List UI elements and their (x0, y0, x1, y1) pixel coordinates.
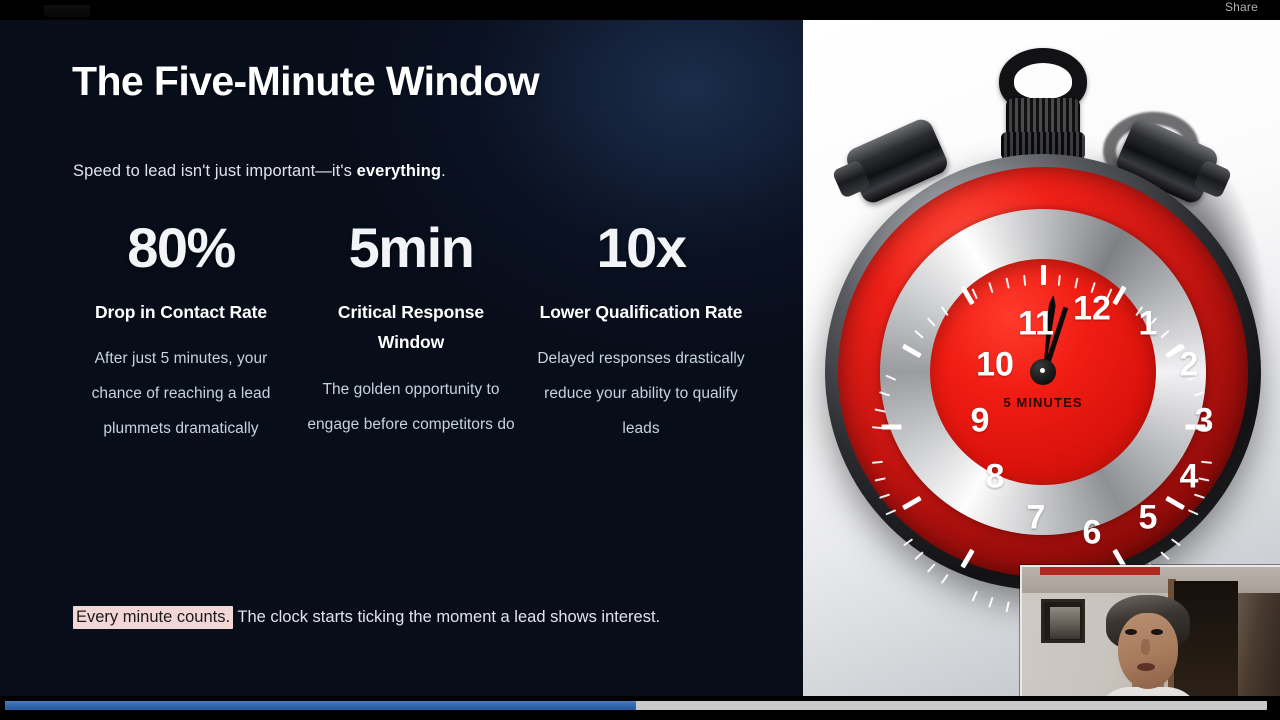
stat-card: 80% Drop in Contact Rate After just 5 mi… (66, 218, 296, 447)
dial-tick-minor (1005, 601, 1009, 612)
stopwatch-dial: 5 MINUTES 121234567891011 (930, 259, 1156, 485)
stopwatch-case: 5 MINUTES 121234567891011 (825, 154, 1261, 590)
dial-tick-minor (1074, 278, 1078, 289)
dial-numeral: 10 (976, 346, 1014, 385)
dial-tick-major (1165, 496, 1185, 510)
dial-tick-minor (1057, 275, 1060, 286)
dial-tick-minor (885, 509, 896, 515)
stat-label: Critical Response Window (304, 297, 518, 357)
stat-value: 5min (304, 218, 518, 277)
screen: Share The Five-Minute Window Speed to le… (0, 0, 1280, 720)
stats-row: 80% Drop in Contact Rate After just 5 mi… (66, 218, 756, 447)
subtitle-emphasis: everything (357, 162, 441, 180)
dial-label: 5 MINUTES (1003, 395, 1082, 410)
dial-tick-major (901, 496, 921, 510)
dial-tick-minor (988, 597, 993, 608)
stat-description: After just 5 minutes, your chance of rea… (74, 341, 288, 446)
dial-tick-minor (874, 408, 885, 412)
webcam-wall-picture (1041, 599, 1085, 643)
dial-tick-minor (988, 282, 993, 293)
participant-nose (1141, 639, 1150, 655)
stopwatch-chrome-ring: 5 MINUTES 121234567891011 (880, 209, 1206, 535)
dial-numeral: 12 (1073, 290, 1111, 329)
dial-numeral: 9 (971, 402, 990, 441)
toolbar-left-control[interactable] (44, 5, 90, 17)
stat-value: 80% (74, 218, 288, 277)
dial-tick-minor (874, 477, 885, 481)
participant-mouth (1137, 663, 1155, 671)
dial-tick-minor (1201, 461, 1212, 464)
hand-center-cap (1030, 359, 1056, 385)
progress-scrollbar[interactable] (5, 701, 1267, 710)
closing-rest: The clock starts ticking the moment a le… (233, 608, 660, 626)
dial-numeral: 3 (1195, 402, 1214, 441)
dial-tick-minor (1005, 278, 1009, 289)
dial-tick-minor (1198, 477, 1209, 481)
stat-description: Delayed responses drastically reduce you… (534, 341, 748, 446)
webcam-red-strip (1040, 567, 1160, 575)
dial-tick-minor (903, 538, 913, 546)
dial-tick-minor (926, 317, 935, 327)
slide-content-panel: The Five-Minute Window Speed to lead isn… (0, 20, 803, 696)
dial-tick-minor (885, 375, 896, 381)
dial-tick-major (960, 549, 974, 569)
dial-tick-minor (1023, 275, 1026, 286)
page-title: The Five-Minute Window (72, 58, 539, 105)
dial-numeral: 8 (986, 458, 1005, 497)
dial-numeral: 5 (1139, 498, 1158, 537)
dial-numeral: 7 (1027, 498, 1046, 537)
dial-numeral: 1 (1139, 305, 1158, 344)
dial-tick-major (881, 425, 901, 430)
dial-tick-minor (879, 391, 890, 396)
share-button[interactable]: Share (1225, 1, 1258, 13)
stat-description: The golden opportunity to engage before … (304, 372, 518, 442)
progress-fill (5, 701, 636, 710)
participant-eye-right (1151, 629, 1163, 635)
bottom-bar (0, 696, 1280, 720)
slide-subtitle: Speed to lead isn't just important—it's … (73, 162, 446, 181)
top-toolbar: Share (0, 0, 1280, 20)
dial-tick-minor (879, 493, 890, 498)
dial-tick-minor (926, 563, 935, 573)
highlighted-phrase: Every minute counts. (73, 606, 233, 629)
participant-eye-left (1125, 629, 1137, 635)
dial-tick-minor (914, 330, 924, 339)
dial-tick-major (1041, 265, 1046, 285)
dial-tick-minor (1193, 391, 1204, 396)
dial-tick-minor (1170, 538, 1180, 546)
closing-statement: Every minute counts. The clock starts ti… (73, 600, 733, 635)
dial-tick-minor (1187, 509, 1198, 515)
stat-label: Lower Qualification Rate (534, 297, 748, 327)
dial-numeral: 4 (1180, 458, 1199, 497)
dial-tick-minor (914, 551, 924, 560)
dial-tick-major (1112, 285, 1126, 305)
dial-tick-minor (1160, 330, 1170, 339)
subtitle-suffix: . (441, 162, 446, 180)
dial-tick-minor (871, 426, 882, 429)
dial-tick-minor (871, 461, 882, 464)
stat-value: 10x (534, 218, 748, 277)
stat-card: 5min Critical Response Window The golden… (296, 218, 526, 447)
dial-numeral: 2 (1180, 346, 1199, 385)
dial-tick-minor (940, 306, 948, 316)
dial-tick-minor (971, 591, 977, 602)
subtitle-text: Speed to lead isn't just important—it's (73, 162, 357, 180)
dial-numeral: 11 (1018, 305, 1054, 344)
stat-card: 10x Lower Qualification Rate Delayed res… (526, 218, 756, 447)
stat-label: Drop in Contact Rate (74, 297, 288, 327)
dial-tick-minor (940, 574, 948, 584)
stopwatch-bezel: 5 MINUTES 121234567891011 (838, 167, 1248, 577)
dial-numeral: 6 (1083, 514, 1102, 553)
